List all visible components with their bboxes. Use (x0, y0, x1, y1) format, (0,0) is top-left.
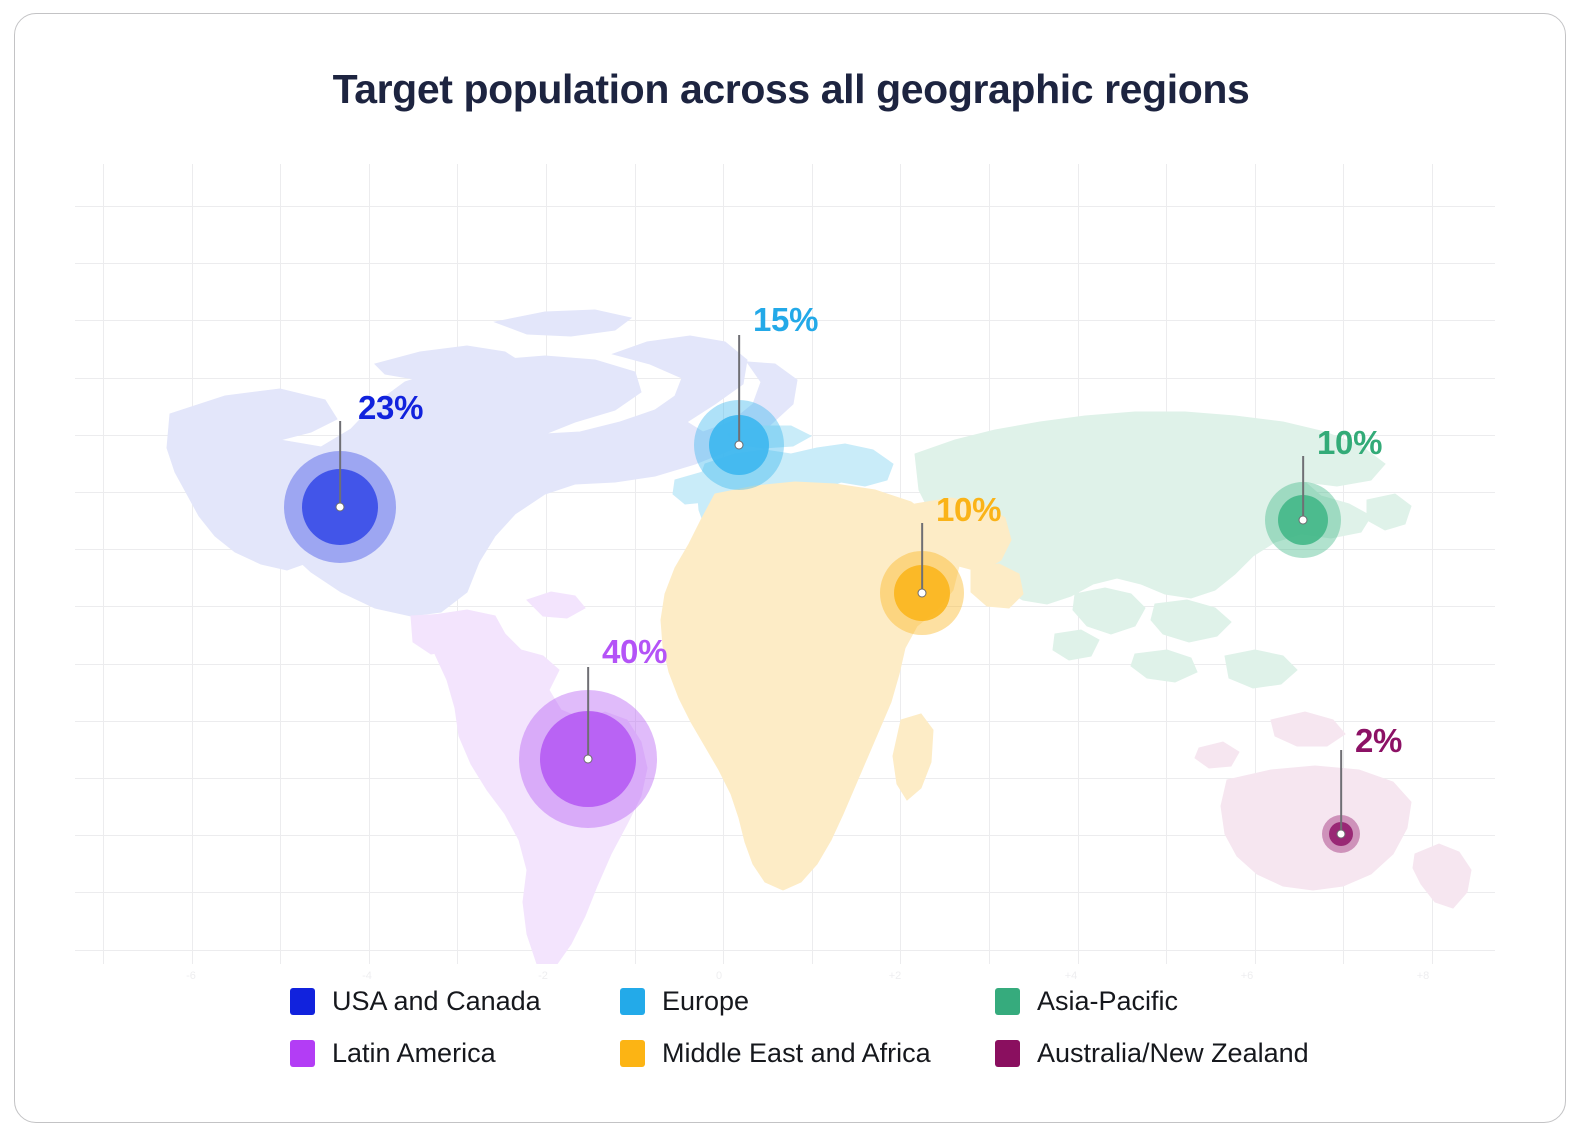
map-region (495, 310, 631, 336)
map-region (375, 346, 527, 384)
legend-label-usa-and-canada: USA and Canada (332, 986, 541, 1017)
axis-tick-label: -4 (362, 970, 372, 982)
axis-tick-label: +2 (889, 970, 902, 982)
world-map-svg (75, 164, 1495, 964)
legend-swatch-usa-and-canada (290, 988, 315, 1015)
legend-item-asia-pacific[interactable]: Asia-Pacific (995, 986, 1178, 1017)
map-region (1221, 766, 1411, 890)
legend-label-australia-new-zealand: Australia/New Zealand (1037, 1038, 1309, 1069)
axis-tick-label: -6 (186, 970, 196, 982)
legend-swatch-europe (620, 988, 645, 1015)
value-label-europe: 15% (753, 301, 818, 339)
axis-tick-label: 0 (716, 970, 722, 982)
value-label-latam: 40% (602, 633, 667, 671)
map-region (1225, 650, 1297, 688)
map-region (1413, 844, 1471, 908)
map-region (1271, 712, 1345, 746)
legend-swatch-australia-new-zealand (995, 1040, 1020, 1067)
center-dot-apac (1299, 516, 1308, 525)
map-region (1131, 650, 1197, 682)
value-label-apac: 10% (1317, 424, 1382, 462)
center-dot-anz (1337, 830, 1346, 839)
legend-label-middle-east-and-africa: Middle East and Africa (662, 1038, 931, 1069)
leader-line-usa (339, 421, 341, 507)
leader-line-anz (1340, 750, 1342, 834)
legend-swatch-asia-pacific (995, 988, 1020, 1015)
map-region (1367, 494, 1411, 530)
map-region (527, 592, 585, 618)
leader-line-apac (1302, 456, 1304, 520)
legend: USA and Canada Europe Asia-Pacific Latin… (15, 986, 1566, 1069)
map-region (661, 482, 959, 890)
legend-row-2: Latin America Middle East and Africa Aus… (15, 1038, 1566, 1069)
map-plot-area: 23%15%10%40%10%2% -6-4-20+2+4+6+8 (75, 164, 1495, 964)
legend-label-europe: Europe (662, 986, 749, 1017)
legend-row-1: USA and Canada Europe Asia-Pacific (15, 986, 1566, 1017)
legend-swatch-latin-america (290, 1040, 315, 1067)
legend-swatch-middle-east-and-africa (620, 1040, 645, 1067)
map-region (893, 714, 933, 800)
axis-tick-label: +6 (1241, 970, 1254, 982)
legend-item-usa-and-canada[interactable]: USA and Canada (290, 986, 620, 1017)
map-region (1073, 588, 1145, 634)
center-dot-usa (336, 503, 345, 512)
leader-line-mea (921, 523, 923, 593)
value-label-mea: 10% (936, 491, 1001, 529)
legend-label-asia-pacific: Asia-Pacific (1037, 986, 1178, 1017)
center-dot-latam (584, 755, 593, 764)
axis-tick-label: -2 (538, 970, 548, 982)
chart-card: Target population across all geographic … (14, 13, 1566, 1123)
world-map (75, 164, 1495, 964)
map-region (1151, 600, 1231, 642)
value-label-usa: 23% (358, 389, 423, 427)
legend-item-australia-new-zealand[interactable]: Australia/New Zealand (995, 1038, 1309, 1069)
axis-tick-label: +4 (1065, 970, 1078, 982)
legend-item-middle-east-and-africa[interactable]: Middle East and Africa (620, 1038, 995, 1069)
map-region (1195, 742, 1239, 768)
legend-item-latin-america[interactable]: Latin America (290, 1038, 620, 1069)
map-region (1053, 630, 1099, 660)
legend-item-europe[interactable]: Europe (620, 986, 995, 1017)
leader-line-europe (738, 335, 740, 445)
page-title: Target population across all geographic … (15, 66, 1566, 113)
leader-line-latam (587, 667, 589, 759)
value-label-anz: 2% (1355, 722, 1402, 760)
axis-tick-label: +8 (1417, 970, 1430, 982)
legend-label-latin-america: Latin America (332, 1038, 496, 1069)
center-dot-europe (735, 441, 744, 450)
center-dot-mea (918, 589, 927, 598)
